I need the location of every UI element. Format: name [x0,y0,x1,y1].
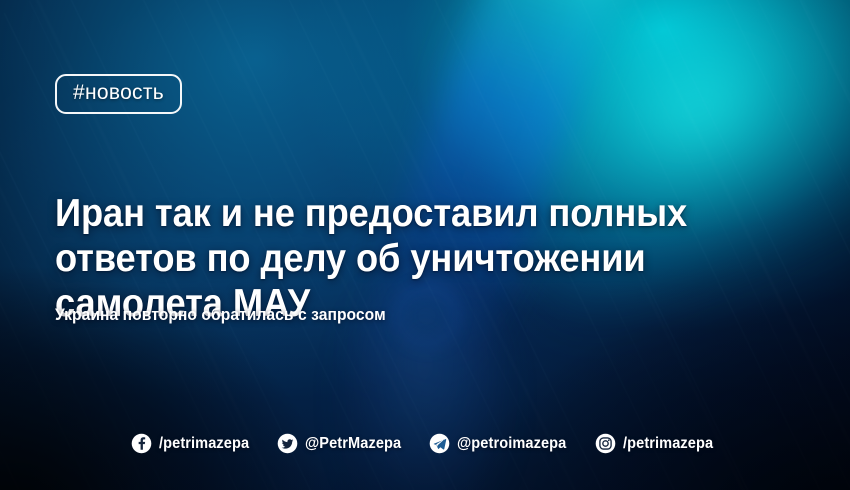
social-handle-telegram: @petroimazepa [457,435,566,453]
social-handle-facebook: /petrimazepa [159,435,249,453]
social-link-twitter[interactable]: @PetrMazepa [277,433,407,454]
social-handle-twitter: @PetrMazepa [305,435,401,453]
social-handle-instagram: /petrimazepa [623,435,713,453]
page-subtitle: Украина повторно обратилась с запросом [55,305,386,325]
twitter-icon [277,433,298,454]
news-card: #новость Иран так и не предоставил полны… [0,0,850,490]
facebook-icon [131,433,152,454]
news-tag-badge[interactable]: #новость [55,74,182,114]
social-link-instagram[interactable]: /petrimazepa [595,433,719,454]
telegram-icon [429,433,450,454]
instagram-icon [595,433,616,454]
social-links: /petrimazepa @PetrMazepa @petroimazepa [0,433,850,454]
card-content: #новость Иран так и не предоставил полны… [0,0,850,490]
social-link-facebook[interactable]: /petrimazepa [131,433,255,454]
social-link-telegram[interactable]: @petroimazepa [429,433,573,454]
